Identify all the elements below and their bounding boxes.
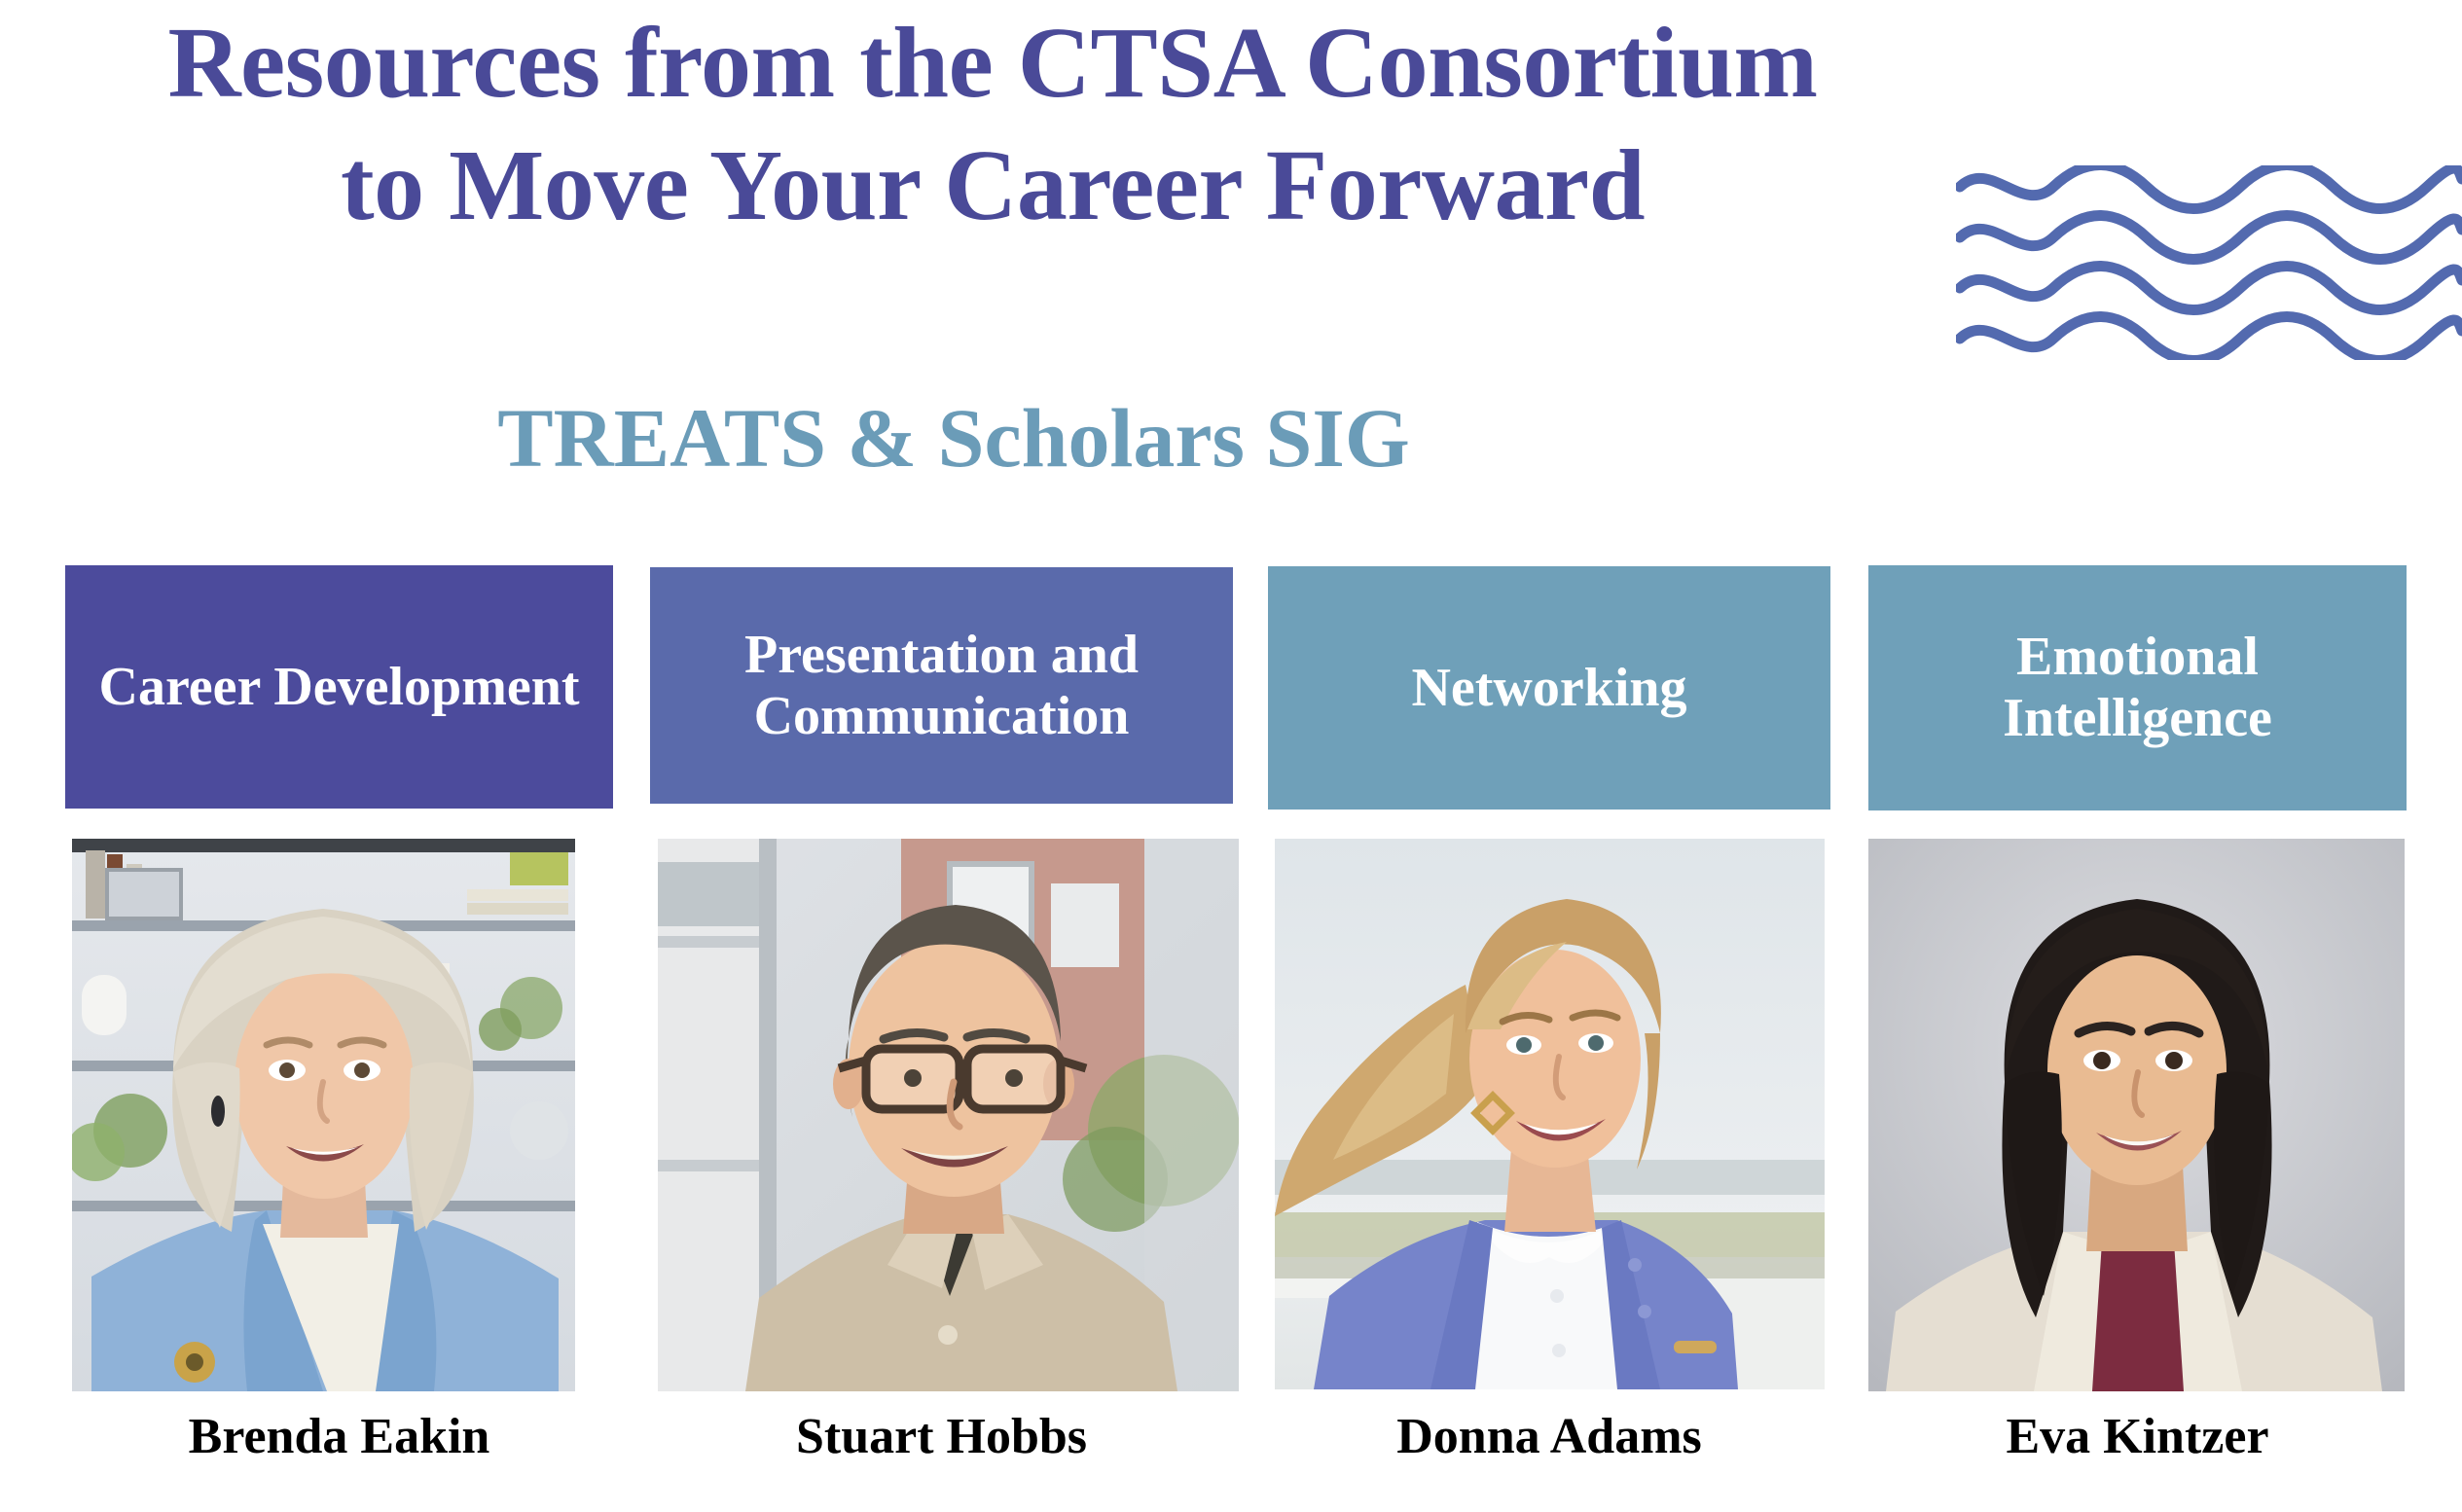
speaker-photo-stuart-hobbs xyxy=(658,839,1239,1391)
photo-illustration xyxy=(658,839,1239,1391)
slide-title-block: Resources from the CTSA Consortium to Mo… xyxy=(0,0,1985,243)
speaker-name-eva-kintzer: Eva Kintzer xyxy=(1868,1408,2407,1466)
speaker-photo-eva-kintzer xyxy=(1868,839,2405,1391)
photo-illustration xyxy=(1275,839,1825,1389)
photo-illustration xyxy=(1868,839,2405,1391)
topic-banner-career-development: Career Development xyxy=(65,565,613,809)
speaker-photo-donna-adams xyxy=(1275,839,1825,1389)
topic-label: Presentation and Communication xyxy=(660,625,1223,746)
speaker-name-brenda-eakin: Brenda Eakin xyxy=(65,1408,613,1466)
speaker-photo-brenda-eakin xyxy=(72,839,575,1391)
speaker-cards-row: Career Development xyxy=(0,565,2462,1470)
wave-lines-icon xyxy=(1956,165,2462,360)
speaker-name-donna-adams: Donna Adams xyxy=(1268,1408,1830,1466)
topic-label: Emotional Intelligence xyxy=(1878,627,2397,748)
slide-subtitle: TREATS & Scholars SIG xyxy=(0,389,1907,486)
photo-illustration xyxy=(72,839,575,1391)
topic-label: Career Development xyxy=(99,657,580,718)
topic-banner-emotional-intelligence: Emotional Intelligence xyxy=(1868,565,2407,810)
title-line-2: to Move Your Career Forward xyxy=(0,121,1985,243)
topic-banner-presentation-communication: Presentation and Communication xyxy=(650,567,1233,804)
topic-label: Networking xyxy=(1411,658,1686,719)
wave-lines-svg xyxy=(1956,165,2462,360)
topic-banner-networking: Networking xyxy=(1268,566,1830,810)
title-line-1: Resources from the CTSA Consortium xyxy=(0,0,1985,121)
speaker-name-stuart-hobbs: Stuart Hobbs xyxy=(650,1408,1233,1466)
